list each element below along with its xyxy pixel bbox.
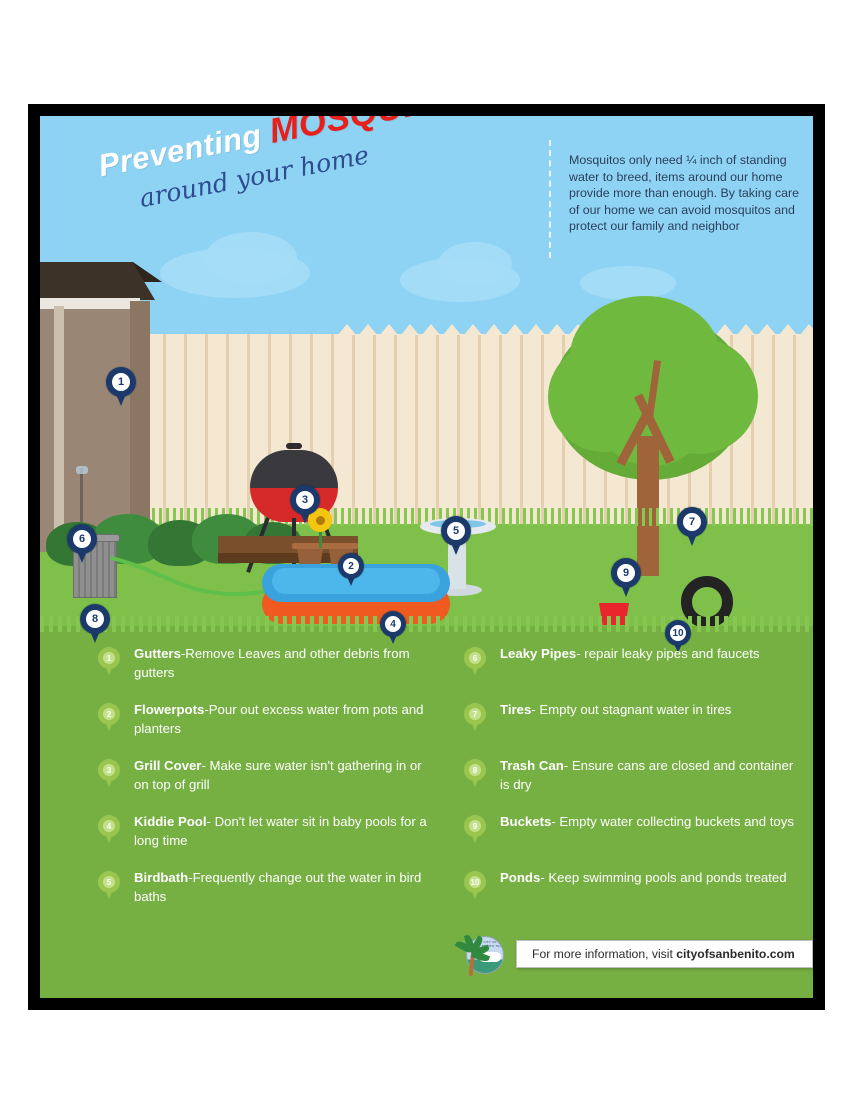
more-info-bar[interactable]: For more information, visit cityofsanben… bbox=[516, 940, 813, 968]
flowerpot-2-rim bbox=[324, 543, 358, 549]
legend-item-trash-can[interactable]: 8 Trash Can- Ensure cans are closed and … bbox=[458, 756, 798, 808]
legend-item-birdbath[interactable]: 5 Birdbath-Frequently change out the wat… bbox=[92, 868, 432, 920]
footer: CITY OF SAN BENITO TEXAS For more inform… bbox=[458, 934, 813, 982]
pin-number: 3 bbox=[290, 485, 320, 515]
legend-pin-10: 10 bbox=[464, 871, 486, 900]
cloud-4 bbox=[438, 242, 512, 286]
legend-pin-8: 8 bbox=[464, 759, 486, 788]
tree-trunk bbox=[637, 436, 659, 576]
legend-column-left: 1 Gutters-Remove Leaves and other debris… bbox=[92, 644, 432, 924]
legend-item-term: Tires bbox=[500, 702, 531, 717]
legend-pin-number: 4 bbox=[98, 815, 120, 837]
pin-number: 4 bbox=[380, 611, 406, 637]
legend-pin-6: 6 bbox=[464, 647, 486, 676]
legend-column-right: 6 Leaky Pipes- repair leaky pipes and fa… bbox=[458, 644, 798, 924]
legend-item-text: Kiddie Pool- Don't let water sit in baby… bbox=[134, 812, 432, 850]
scene-pin-3-grill-cover[interactable]: 3 bbox=[290, 485, 320, 525]
legend-pin-4: 4 bbox=[98, 815, 120, 844]
scene-pin-8-trash-can[interactable]: 8 bbox=[80, 604, 110, 644]
grill-handle bbox=[286, 443, 302, 449]
pin-number: 5 bbox=[441, 516, 471, 546]
legend-pin-number: 3 bbox=[98, 759, 120, 781]
legend-item-text: Birdbath-Frequently change out the water… bbox=[134, 868, 432, 906]
pin-number: 2 bbox=[338, 553, 364, 579]
legend-item-tires[interactable]: 7 Tires- Empty out stagnant water in tir… bbox=[458, 700, 798, 752]
website-url: cityofsanbenito.com bbox=[676, 947, 795, 961]
legend-pin-number: 8 bbox=[464, 759, 486, 781]
legend-item-text: Grill Cover- Make sure water isn't gathe… bbox=[134, 756, 432, 794]
legend: 1 Gutters-Remove Leaves and other debris… bbox=[40, 644, 813, 944]
more-info-prefix: For more information, visit bbox=[532, 947, 676, 961]
house-column bbox=[54, 306, 64, 556]
legend-item-text: Gutters-Remove Leaves and other debris f… bbox=[134, 644, 432, 682]
legend-pin-number: 1 bbox=[98, 647, 120, 669]
legend-pin-2: 2 bbox=[98, 703, 120, 732]
legend-item-desc: - Empty out stagnant water in tires bbox=[531, 702, 731, 717]
legend-item-text: Flowerpots-Pour out excess water from po… bbox=[134, 700, 432, 738]
legend-item-term: Ponds bbox=[500, 870, 540, 885]
pin-number: 6 bbox=[67, 524, 97, 554]
header-dashed-divider bbox=[549, 140, 551, 258]
scene-pin-4-kiddie-pool[interactable]: 4 bbox=[380, 611, 406, 645]
legend-item-grill-cover[interactable]: 3 Grill Cover- Make sure water isn't gat… bbox=[92, 756, 432, 808]
legend-pin-number: 10 bbox=[464, 871, 486, 893]
legend-pin-5: 5 bbox=[98, 871, 120, 900]
legend-item-desc: - repair leaky pipes and faucets bbox=[576, 646, 759, 661]
legend-pin-1: 1 bbox=[98, 647, 120, 676]
legend-item-desc: - Keep swimming pools and ponds treated bbox=[540, 870, 786, 885]
legend-pin-number: 7 bbox=[464, 703, 486, 725]
legend-item-term: Grill Cover bbox=[134, 758, 201, 773]
city-seal-logo: CITY OF SAN BENITO TEXAS bbox=[458, 934, 504, 980]
scene-pin-7-tires[interactable]: 7 bbox=[677, 507, 707, 547]
cloud-5 bbox=[580, 266, 676, 300]
legend-item-leaky-pipes[interactable]: 6 Leaky Pipes- repair leaky pipes and fa… bbox=[458, 644, 798, 696]
scene-pin-9-buckets[interactable]: 9 bbox=[611, 558, 641, 598]
flowerpot-1-rim bbox=[292, 543, 328, 549]
scene-pin-1-gutters[interactable]: 1 bbox=[106, 367, 136, 407]
legend-item-ponds[interactable]: 10 Ponds- Keep swimming pools and ponds … bbox=[458, 868, 798, 920]
legend-item-term: Leaky Pipes bbox=[500, 646, 576, 661]
legend-item-kiddie-pool[interactable]: 4 Kiddie Pool- Don't let water sit in ba… bbox=[92, 812, 432, 864]
legend-item-text: Ponds- Keep swimming pools and ponds tre… bbox=[500, 868, 798, 887]
intro-paragraph: Mosquitos only need ¼ inch of standing w… bbox=[569, 152, 805, 235]
poster-canvas: Preventing MOSQUITOS around your home Mo… bbox=[40, 116, 813, 998]
cloud-2 bbox=[205, 232, 297, 284]
scene-pin-5-birdbath[interactable]: 5 bbox=[441, 516, 471, 556]
legend-pin-number: 9 bbox=[464, 815, 486, 837]
legend-pin-number: 2 bbox=[98, 703, 120, 725]
pin-number: 7 bbox=[677, 507, 707, 537]
legend-pin-number: 6 bbox=[464, 647, 486, 669]
scene-pin-2-flowerpots[interactable]: 2 bbox=[338, 553, 364, 587]
legend-item-term: Trash Can bbox=[500, 758, 564, 773]
legend-item-text: Tires- Empty out stagnant water in tires bbox=[500, 700, 798, 719]
legend-item-term: Flowerpots bbox=[134, 702, 204, 717]
pin-number: 9 bbox=[611, 558, 641, 588]
legend-item-term: Gutters bbox=[134, 646, 181, 661]
legend-item-term: Buckets bbox=[500, 814, 551, 829]
legend-item-flowerpots[interactable]: 2 Flowerpots-Pour out excess water from … bbox=[92, 700, 432, 752]
legend-item-text: Leaky Pipes- repair leaky pipes and fauc… bbox=[500, 644, 798, 663]
legend-pin-7: 7 bbox=[464, 703, 486, 732]
leaky-pipe bbox=[80, 468, 83, 522]
legend-item-buckets[interactable]: 9 Buckets- Empty water collecting bucket… bbox=[458, 812, 798, 864]
legend-pin-9: 9 bbox=[464, 815, 486, 844]
pin-number: 8 bbox=[80, 604, 110, 634]
legend-item-term: Birdbath bbox=[134, 870, 188, 885]
scene-pin-6-leaky-pipes[interactable]: 6 bbox=[67, 524, 97, 564]
legend-pin-number: 5 bbox=[98, 871, 120, 893]
legend-grass-edge bbox=[40, 616, 813, 632]
water-drip bbox=[76, 466, 88, 474]
legend-item-gutters[interactable]: 1 Gutters-Remove Leaves and other debris… bbox=[92, 644, 432, 696]
pin-number: 1 bbox=[106, 367, 136, 397]
more-info-text: For more information, visit cityofsanben… bbox=[532, 947, 795, 961]
legend-item-desc: - Empty water collecting buckets and toy… bbox=[551, 814, 794, 829]
poster-page: Preventing MOSQUITOS around your home Mo… bbox=[0, 0, 850, 1100]
poster-frame: Preventing MOSQUITOS around your home Mo… bbox=[28, 104, 825, 1010]
legend-pin-3: 3 bbox=[98, 759, 120, 788]
legend-item-text: Trash Can- Ensure cans are closed and co… bbox=[500, 756, 798, 794]
legend-item-text: Buckets- Empty water collecting buckets … bbox=[500, 812, 798, 831]
pin-number: 10 bbox=[665, 620, 691, 646]
legend-item-term: Kiddie Pool bbox=[134, 814, 207, 829]
